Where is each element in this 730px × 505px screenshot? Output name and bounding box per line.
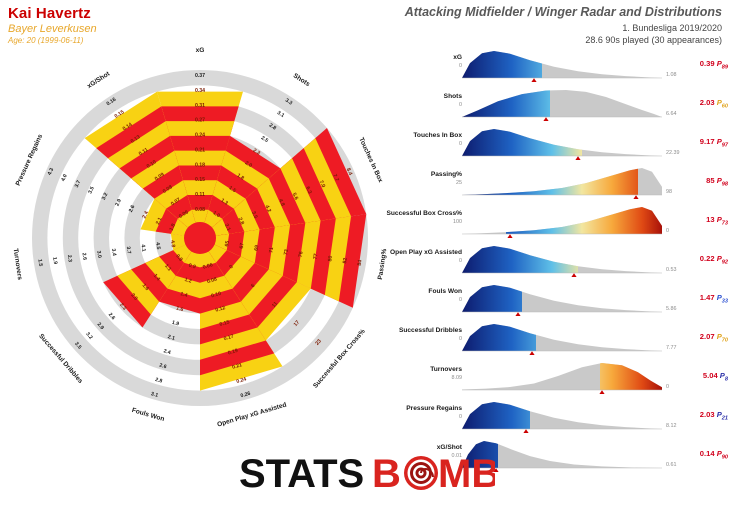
radar-chart: 0.370.340.310.270.240.210.180.150.110.08… bbox=[0, 40, 400, 440]
distribution-percentile-number: 73 bbox=[722, 221, 728, 227]
distribution-label: Turnovers bbox=[430, 366, 462, 373]
distribution-percentile: P8 bbox=[718, 371, 728, 380]
distribution-curve bbox=[462, 243, 662, 277]
distribution-row: Passing%259885 P98 bbox=[398, 165, 730, 204]
radar-tick-label: 65 bbox=[224, 240, 231, 247]
radar-tick-label: 0.18 bbox=[195, 162, 205, 168]
radar-tick-label: 0.24 bbox=[195, 133, 205, 139]
radar-title: Attacking Midfielder / Winger Radar and … bbox=[405, 5, 722, 19]
radar-tick-label: 4.5 bbox=[154, 242, 161, 250]
distribution-percentile-number: 89 bbox=[722, 65, 728, 71]
distribution-label: Fouls Won bbox=[428, 288, 462, 295]
distribution-area-shaded bbox=[462, 168, 662, 195]
bomb-target-icon bbox=[404, 456, 438, 490]
radar-tick-label: 0.15 bbox=[195, 177, 205, 183]
radar-axis-title: Open Play xG Assisted bbox=[216, 402, 287, 429]
distribution-max-label: 0.53 bbox=[666, 267, 677, 273]
distribution-plot bbox=[462, 87, 662, 121]
distribution-label: xG bbox=[453, 54, 462, 61]
logo-text-mb: MB bbox=[438, 452, 495, 496]
distribution-value: 13 P73 bbox=[674, 215, 728, 227]
radar-tick-label: 0.37 bbox=[195, 73, 205, 79]
distribution-max-label: 22.39 bbox=[666, 150, 680, 156]
player-marker-icon bbox=[599, 390, 604, 394]
distribution-value: 9.17 P97 bbox=[674, 137, 728, 149]
distribution-plot bbox=[462, 243, 662, 277]
distribution-row: xG01.080.39 P89 bbox=[398, 48, 730, 87]
distribution-curve bbox=[462, 48, 662, 82]
distribution-row: Fouls Won05.861.47 P33 bbox=[398, 282, 730, 321]
radar-tick-label: 3.7 bbox=[125, 246, 132, 254]
distribution-percentile: P70 bbox=[715, 332, 728, 341]
distribution-value: 2.07 P70 bbox=[674, 332, 728, 344]
radar-axis-title: Fouls Won bbox=[131, 407, 165, 423]
logo-text-b: B bbox=[372, 452, 401, 496]
distribution-value: 85 P98 bbox=[674, 176, 728, 188]
radar-tick-label: 3.4 bbox=[110, 248, 117, 256]
radar-axis-title: xG/Shot bbox=[86, 70, 112, 90]
distribution-percentile-number: 21 bbox=[722, 416, 728, 422]
statsbomb-logo-svg: STATS B MB bbox=[235, 451, 495, 497]
distribution-value: 0.22 P92 bbox=[674, 254, 728, 266]
distribution-percentile-number: 70 bbox=[722, 338, 728, 344]
radar-tick-label: 2.3 bbox=[66, 255, 73, 263]
radar-tick-label: 73 bbox=[283, 249, 290, 256]
distribution-max-label: 5.86 bbox=[666, 306, 677, 312]
distribution-curve bbox=[462, 165, 662, 199]
distribution-value-number: 1.47 bbox=[700, 293, 715, 302]
distribution-percentile-number: 33 bbox=[722, 299, 728, 305]
radar-tick-label: 0.27 bbox=[195, 118, 205, 124]
radar-tick-label: 76 bbox=[298, 251, 305, 258]
player-marker-icon bbox=[575, 156, 580, 160]
distribution-panel: xG01.080.39 P89Shots06.642.03 P60Touches… bbox=[398, 48, 730, 443]
distribution-curve bbox=[462, 321, 662, 355]
distribution-plot bbox=[462, 165, 662, 199]
distribution-row: Touches In Box022.399.17 P97 bbox=[398, 126, 730, 165]
radar-tick-label: 0.11 bbox=[195, 192, 205, 198]
player-marker-icon bbox=[529, 351, 534, 355]
distribution-row: Pressure Regains08.122.03 P21 bbox=[398, 399, 730, 438]
distribution-area-shaded bbox=[462, 129, 662, 156]
distribution-value: 0.39 P89 bbox=[674, 59, 728, 71]
radar-tick-label: 4.8 bbox=[169, 240, 176, 248]
player-marker-icon bbox=[571, 273, 576, 277]
distribution-max-label: 8.12 bbox=[666, 423, 677, 429]
radar-core bbox=[184, 222, 216, 254]
distribution-row: Shots06.642.03 P60 bbox=[398, 87, 730, 126]
radar-axis-title: Passing% bbox=[377, 248, 388, 280]
radar-axis-title: Turnovers bbox=[12, 248, 23, 281]
distribution-value-number: 9.17 bbox=[700, 137, 715, 146]
distribution-plot bbox=[462, 360, 662, 394]
distribution-row: Open Play xG Assisted00.530.22 P92 bbox=[398, 243, 730, 282]
distribution-value-number: 2.03 bbox=[700, 410, 715, 419]
distribution-value: 2.03 P60 bbox=[674, 98, 728, 110]
distribution-label: Passing% bbox=[431, 171, 462, 178]
distribution-min-label: 8.09 bbox=[452, 375, 463, 381]
radar-tick-label: 84 bbox=[357, 259, 364, 266]
distribution-max-label: 6.64 bbox=[666, 111, 677, 117]
logo-text-stats: STATS bbox=[239, 452, 364, 496]
player-marker-icon bbox=[523, 429, 528, 433]
distribution-curve bbox=[462, 360, 662, 394]
distribution-label: Shots bbox=[444, 93, 462, 100]
distribution-row: Turnovers8.0905.04 P8 bbox=[398, 360, 730, 399]
distribution-plot bbox=[462, 126, 662, 160]
distribution-percentile-number: 92 bbox=[722, 260, 728, 266]
player-marker-icon bbox=[543, 117, 548, 121]
distribution-label: Touches In Box bbox=[413, 132, 462, 139]
radar-minutes: 28.6 90s played (30 appearances) bbox=[405, 35, 722, 45]
radar-tick-label: 0.08 bbox=[195, 207, 205, 213]
distribution-percentile: P98 bbox=[715, 176, 728, 185]
radar-tick-label: 67 bbox=[239, 242, 246, 249]
distribution-max-label: 0 bbox=[666, 384, 669, 390]
distribution-area-shaded bbox=[462, 207, 662, 234]
distribution-percentile: P33 bbox=[715, 293, 728, 302]
distribution-plot bbox=[462, 204, 662, 238]
distribution-value: 2.03 P21 bbox=[674, 410, 728, 422]
player-marker-icon bbox=[531, 78, 536, 82]
distribution-max-label: 1.08 bbox=[666, 72, 677, 78]
radar-axis-title: Pressure Regains bbox=[15, 133, 45, 187]
distribution-value-number: 2.03 bbox=[700, 98, 715, 107]
radar-header: Attacking Midfielder / Winger Radar and … bbox=[405, 5, 722, 45]
radar-tick-label: 80 bbox=[327, 255, 334, 262]
distribution-value: 5.04 P8 bbox=[674, 371, 728, 383]
radar-axis-title: Shots bbox=[292, 72, 311, 88]
radar-tick-label: 0.21 bbox=[195, 147, 205, 153]
distribution-percentile: P73 bbox=[715, 215, 728, 224]
player-marker-icon bbox=[507, 234, 512, 238]
radar-tick-label: 1.5 bbox=[36, 259, 43, 267]
radar-svg: 0.370.340.310.270.240.210.180.150.110.08… bbox=[0, 40, 400, 440]
distribution-label: xG/Shot bbox=[437, 444, 462, 451]
distribution-curve bbox=[462, 126, 662, 160]
radar-axis-title: xG bbox=[196, 47, 205, 54]
distribution-min-label: 100 bbox=[453, 219, 462, 225]
distribution-curve bbox=[462, 399, 662, 433]
distribution-row: Successful Dribbles07.772.07 P70 bbox=[398, 321, 730, 360]
player-marker-icon bbox=[515, 312, 520, 316]
radar-tick-label: 3.0 bbox=[95, 250, 102, 258]
distribution-label: Pressure Regains bbox=[406, 405, 462, 412]
radar-competition: 1. Bundesliga 2019/2020 bbox=[405, 23, 722, 33]
distribution-plot bbox=[462, 399, 662, 433]
distribution-value: 1.47 P33 bbox=[674, 293, 728, 305]
distribution-max-label: 0 bbox=[666, 228, 669, 234]
distribution-value-number: 2.07 bbox=[700, 332, 715, 341]
distribution-plot bbox=[462, 321, 662, 355]
radar-tick-label: 2.6 bbox=[81, 252, 88, 260]
distribution-curve bbox=[462, 282, 662, 316]
distribution-percentile: P92 bbox=[715, 254, 728, 263]
radar-tick-label: 4.1 bbox=[139, 244, 146, 252]
distribution-label: Open Play xG Assisted bbox=[390, 249, 462, 256]
distribution-max-label: 7.77 bbox=[666, 345, 677, 351]
distribution-plot bbox=[462, 282, 662, 316]
distribution-row: Successful Box Cross%100013 P73 bbox=[398, 204, 730, 243]
distribution-value-number: 0.39 bbox=[700, 59, 715, 68]
radar-tick-label: 0.31 bbox=[195, 103, 205, 109]
distribution-curve bbox=[462, 204, 662, 238]
distribution-value-number: 85 bbox=[706, 176, 714, 185]
distribution-percentile: P97 bbox=[715, 137, 728, 146]
distribution-plot bbox=[462, 48, 662, 82]
distribution-percentile-number: 98 bbox=[722, 182, 728, 188]
distribution-max-label: 98 bbox=[666, 189, 672, 195]
statsbomb-logo: STATS B MB bbox=[0, 451, 730, 497]
radar-tick-label: 0.34 bbox=[195, 88, 205, 94]
player-marker-icon bbox=[633, 195, 638, 199]
player-team: Bayer Leverkusen bbox=[8, 23, 97, 35]
player-name: Kai Havertz bbox=[8, 5, 97, 22]
distribution-percentile: P60 bbox=[715, 98, 728, 107]
radar-tick-label: 71 bbox=[268, 247, 275, 254]
distribution-value-number: 13 bbox=[706, 215, 714, 224]
distribution-percentile-number: 8 bbox=[725, 377, 728, 383]
distribution-percentile: P89 bbox=[715, 59, 728, 68]
distribution-area-shaded bbox=[462, 246, 662, 273]
distribution-label: Successful Dribbles bbox=[399, 327, 462, 334]
distribution-curve bbox=[462, 87, 662, 121]
radar-tick-label: 69 bbox=[254, 245, 261, 252]
radar-tick-label: 1.9 bbox=[51, 257, 58, 265]
radar-tick-label: 77 bbox=[313, 253, 320, 260]
distribution-percentile-number: 60 bbox=[722, 104, 728, 110]
radar-tick-label: 82 bbox=[342, 257, 349, 264]
player-header: Kai Havertz Bayer Leverkusen Age: 20 (19… bbox=[8, 5, 97, 45]
distribution-label: Successful Box Cross% bbox=[387, 210, 463, 217]
distribution-percentile: P21 bbox=[715, 410, 728, 419]
distribution-percentile-number: 97 bbox=[722, 143, 728, 149]
distribution-value-number: 0.22 bbox=[700, 254, 715, 263]
distribution-value-number: 5.04 bbox=[703, 371, 718, 380]
radar-axis-title: Touches In Box bbox=[357, 137, 384, 184]
